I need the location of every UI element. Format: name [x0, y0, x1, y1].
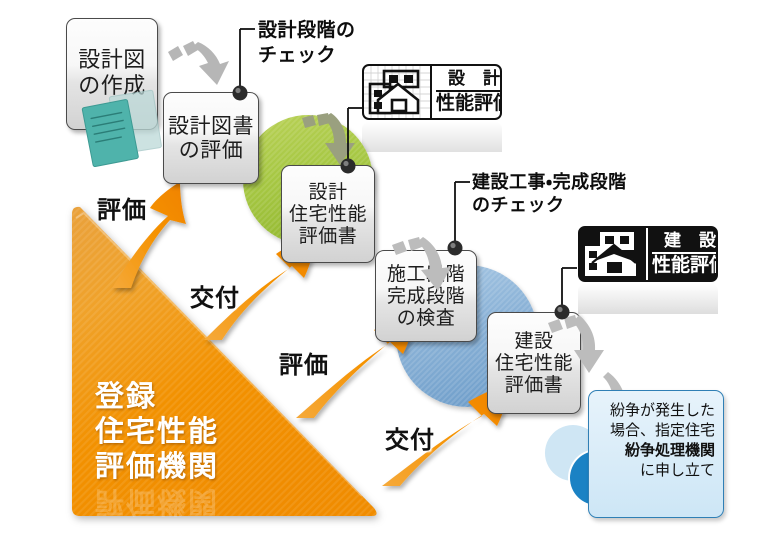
dispute-line-4: に申し立て	[598, 460, 715, 480]
callout-line: チェック	[258, 43, 356, 68]
flow-label-delivery-2: 交付	[385, 420, 435, 455]
stamp-construction-reflection	[578, 284, 718, 314]
org-label-line3: 評価機関	[95, 448, 219, 486]
gray-arrow-1	[168, 41, 229, 85]
house-grid-icon	[364, 66, 430, 118]
stamp-bottom-text: 性能評価	[436, 94, 502, 113]
leader-design-stage-check	[240, 29, 255, 89]
step-line: 設計図	[78, 48, 146, 74]
step-line: 設計図書	[168, 114, 254, 138]
callout-line: 建設工事・完成段階	[472, 171, 627, 194]
step-box-design-drawing-creation[interactable]: 設計図 の作成	[66, 18, 158, 130]
stamp-design-performance-mark: 設 計 性能評価	[362, 64, 502, 120]
step-line: 評価書	[505, 374, 564, 396]
step-box-design-performance-certificate[interactable]: 設計 住宅性能 評価書	[281, 165, 375, 263]
dispute-line-2: 場合、指定住宅	[598, 420, 715, 440]
flow-label-evaluation-1: 評価	[97, 190, 147, 225]
org-label-line2: 住宅性能	[95, 413, 219, 451]
callout-line: 設計段階の	[258, 18, 356, 43]
leader-construction-mark	[562, 268, 577, 308]
callout-line: のチェック	[472, 194, 627, 217]
stamp-design-reflection	[362, 122, 502, 152]
step-line: の評価	[179, 138, 244, 162]
stamp-words: 建 設 性能評価	[646, 228, 718, 280]
step-line: 評価書	[299, 225, 358, 247]
step-line: 建設	[514, 330, 553, 352]
flow-label-evaluation-2: 評価	[279, 345, 329, 380]
org-label-reflection: 評価機関	[95, 483, 219, 525]
stamp-top-text: 設 計	[442, 71, 502, 88]
flow-label-delivery-1: 交付	[190, 278, 240, 313]
step-line: 完成段階	[387, 285, 465, 307]
step-line: の検査	[397, 307, 456, 329]
step-line: 住宅性能	[289, 203, 367, 225]
step-line: 住宅性能	[495, 352, 573, 374]
dispute-line-1: 紛争が発生した	[598, 400, 715, 420]
house-solid-icon	[580, 228, 646, 280]
step-line: の作成	[78, 74, 146, 100]
callout-design-stage-check: 設計段階の チェック	[258, 18, 356, 67]
stamp-construction-performance-mark: 建 設 性能評価	[578, 226, 718, 282]
step-line: 設計	[308, 181, 347, 203]
step-box-design-document-evaluation[interactable]: 設計図書 の評価	[163, 92, 259, 184]
dispute-line-3: 紛争処理機関	[598, 440, 715, 460]
diagram-canvas: 登録 住宅性能 評価機関 評価機関	[0, 0, 770, 538]
stamp-words: 設 計 性能評価	[430, 66, 502, 118]
org-label-line1: 登録	[95, 378, 157, 416]
step-box-construction-performance-certificate[interactable]: 建設 住宅性能 評価書	[487, 312, 581, 414]
callout-construction-completion-check: 建設工事・完成段階 のチェック	[472, 171, 627, 218]
step-line: 施工段階	[387, 263, 465, 285]
step-box-construction-inspection[interactable]: 施工段階 完成段階 の検査	[375, 250, 477, 342]
dispute-resolution-note[interactable]: 紛争が発生した 場合、指定住宅 紛争処理機関 に申し立て	[588, 390, 724, 518]
stamp-top-text: 建 設	[658, 233, 718, 250]
stamp-bottom-text: 性能評価	[652, 256, 718, 275]
leader-construction-check	[455, 182, 470, 244]
